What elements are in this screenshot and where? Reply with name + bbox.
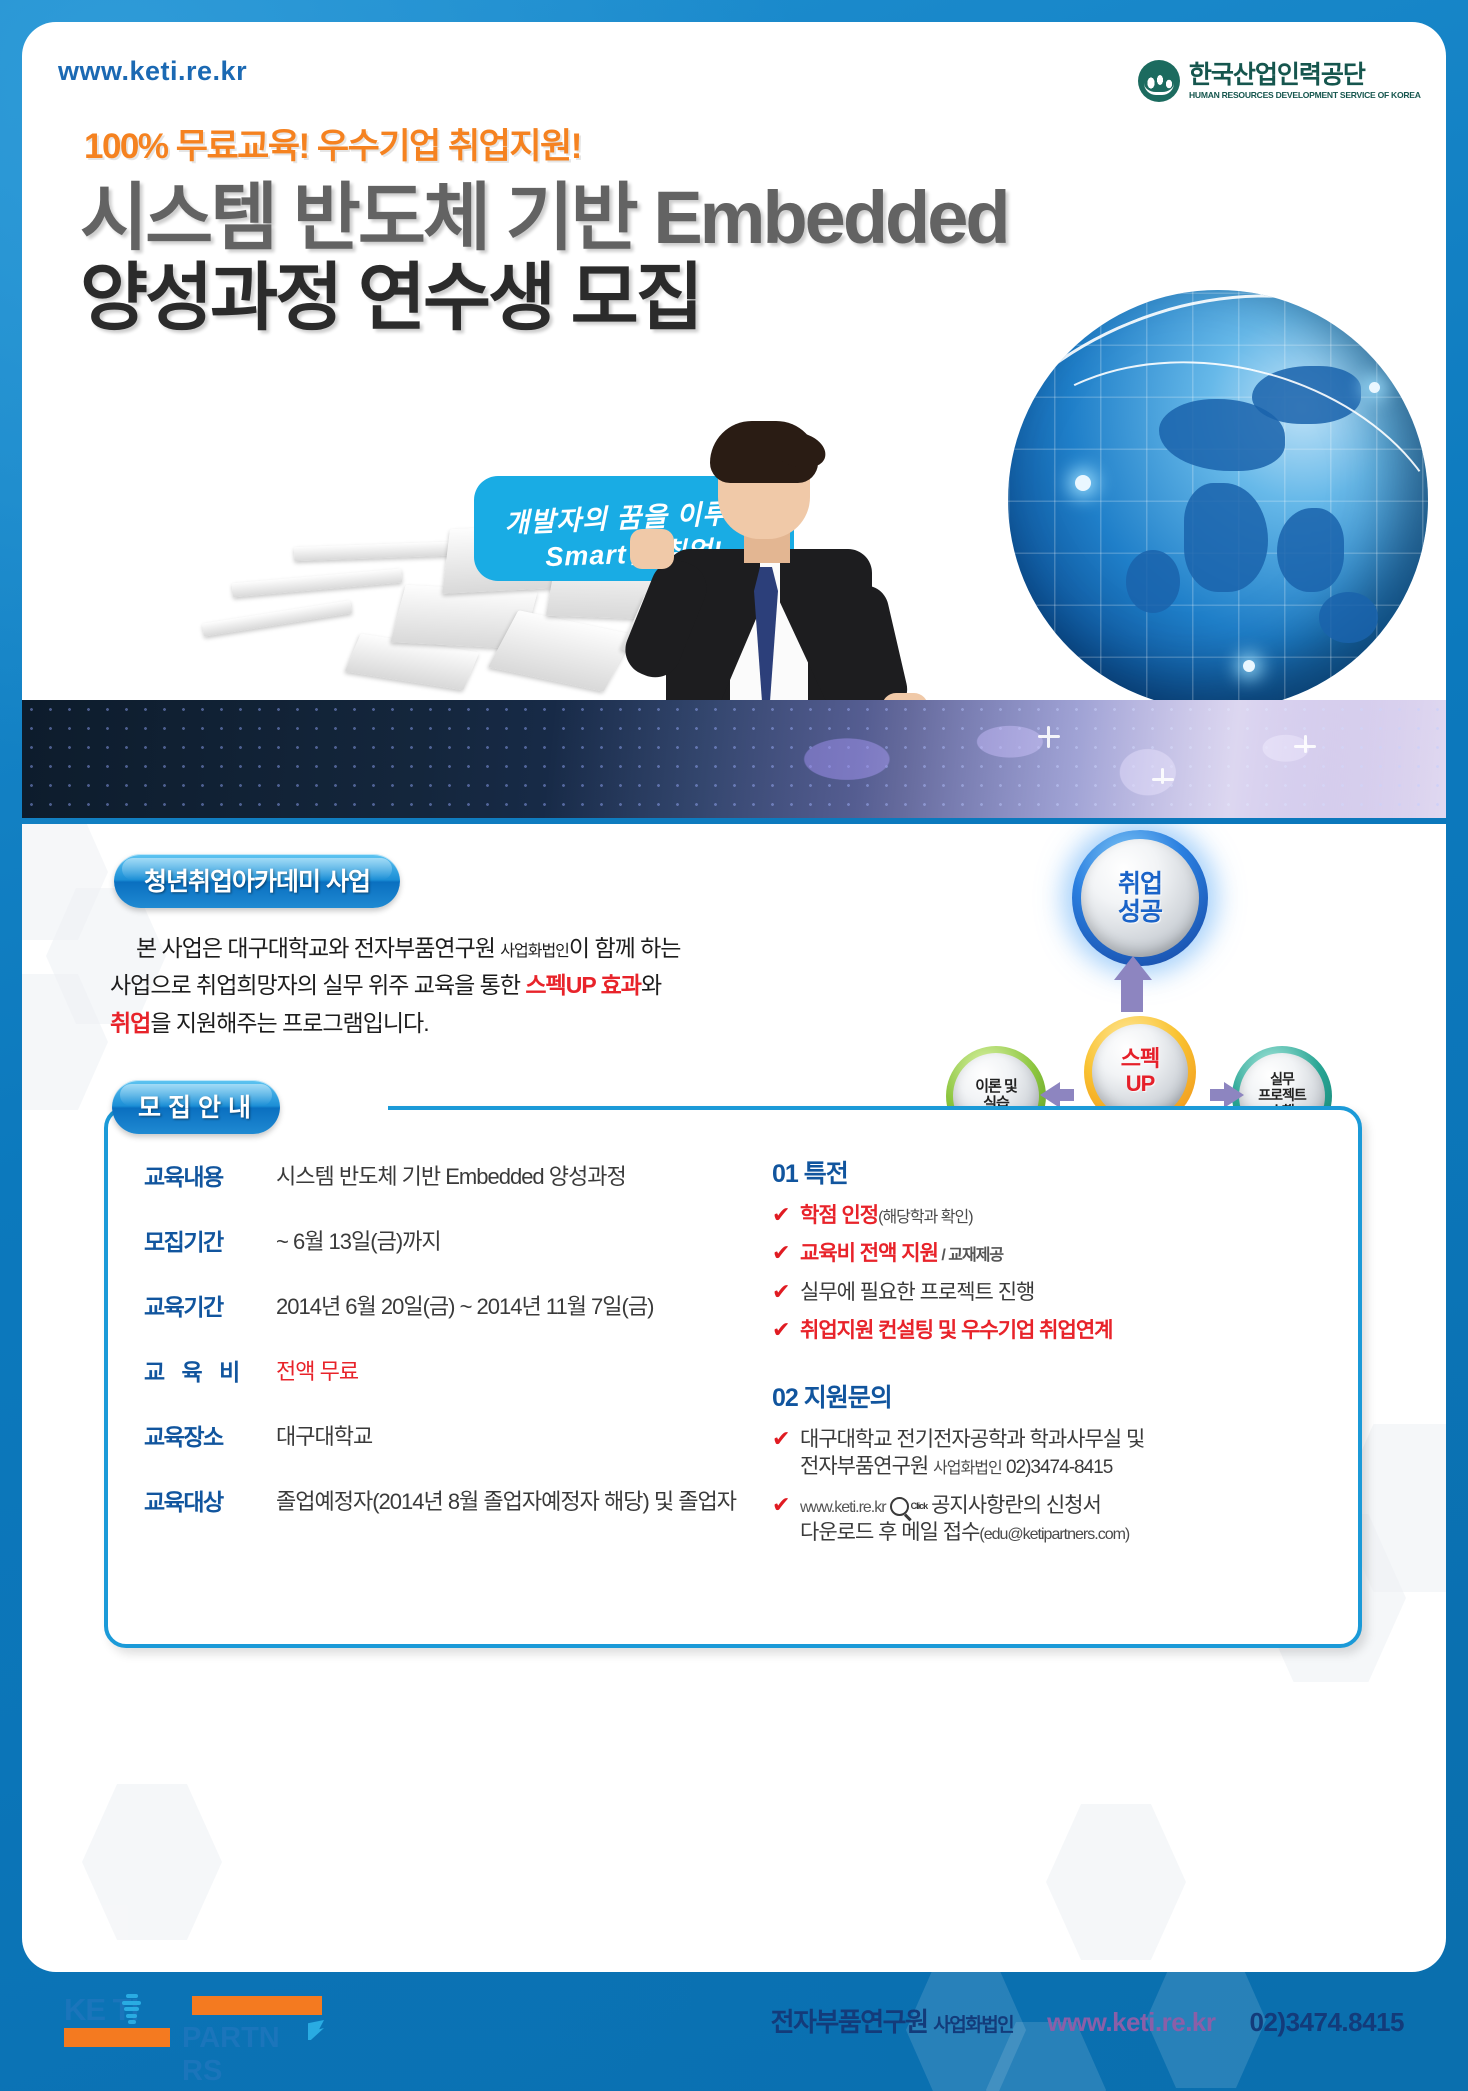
check-icon: ✔: [772, 1426, 800, 1451]
benefits-block: 01 특전 ✔ 학점 인정(해당학과 확인) ✔ 교육비 전액 지원 / 교재제…: [772, 1154, 1354, 1344]
recruit-row-key: 교육대상: [144, 1483, 276, 1517]
partners-logo-text: PARTN RS: [182, 2022, 280, 2088]
recruit-row: 교육기간 2014년 6월 20일(금) ~ 2014년 11월 7일(금): [144, 1288, 744, 1322]
footer-url[interactable]: www.keti.re.kr: [1047, 2007, 1215, 2038]
recruit-row-value: 시스템 반도체 기반 Embedded 양성과정: [276, 1158, 626, 1191]
recruit-tag-label: 모집안내: [112, 1080, 280, 1134]
contact-heading: 02 지원문의: [772, 1378, 1354, 1414]
contact-text: 대구대학교 전기전자공학과 학과사무실 및 전자부품연구원 사업화법인 02)3…: [800, 1426, 1144, 1481]
keti-flag-icon: [308, 2020, 324, 2040]
recruit-row-value: 2014년 6월 20일(금) ~ 2014년 11월 7일(금): [276, 1288, 653, 1321]
hero-panel: www.keti.re.kr 한국산업인력공단 HUMAN RESOURCES …: [22, 22, 1446, 700]
benefit-item: ✔ 학점 인정(해당학과 확인): [772, 1202, 1354, 1229]
intro-text-3: 사업으로 취업희망자의 실무 위주 교육을 통한: [110, 972, 525, 998]
check-icon: ✔: [772, 1317, 800, 1342]
contact-text: www.keti.re.krClick공지사항란의 신청서 다운로드 후 메일 …: [800, 1492, 1129, 1547]
check-icon: ✔: [772, 1202, 800, 1227]
contact-item: ✔ www.keti.re.krClick공지사항란의 신청서 다운로드 후 메…: [772, 1492, 1354, 1547]
recruit-row: 교육장소 대구대학교: [144, 1418, 744, 1452]
check-icon: ✔: [772, 1240, 800, 1265]
intro-tag: 청년취업아카데미 사업: [114, 854, 770, 908]
benefit-subtext: (해당학과 확인): [878, 1209, 972, 1226]
keti-partners-logo: KE TI PARTN RS: [64, 1992, 279, 2052]
benefit-text: 학점 인정(해당학과 확인): [800, 1202, 973, 1229]
recruit-tag: 모집안내: [112, 1080, 280, 1134]
footer: KE TI PARTN RS 전자부품연구원 사업화법인 www.keti.re…: [22, 1972, 1446, 2069]
recruit-row-key: 모집기간: [144, 1223, 276, 1257]
contact-block: 02 지원문의 ✔ 대구대학교 전기전자공학과 학과사무실 및 전자부품연구원 …: [772, 1378, 1354, 1547]
benefit-item: ✔ 교육비 전액 지원 / 교재제공: [772, 1240, 1354, 1267]
band-light-sweep: [22, 700, 1446, 818]
click-cursor-icon: Click: [890, 1497, 928, 1516]
recruit-row: 모집기간 ~ 6월 13일(금)까지: [144, 1223, 744, 1257]
footer-organization: 전자부품연구원 사업화법인: [771, 2002, 1014, 2039]
recruit-info-section: 모집안내 교육내용 시스템 반도체 기반 Embedded 양성과정 모집기간 …: [104, 1080, 1354, 1640]
recruit-row: 교 육 비 전액 무료: [144, 1353, 744, 1387]
hrdkorea-logo: 한국산업인력공단 HUMAN RESOURCES DEVELOPMENT SER…: [1138, 60, 1416, 102]
check-icon: ✔: [772, 1279, 800, 1304]
intro-text-1: 본 사업은 대구대학교와 전자부품연구원: [136, 935, 500, 961]
footer-telephone: 02)3474.8415: [1250, 2007, 1404, 2038]
intro-highlight-spec-up: 스펙UP 효과: [525, 972, 641, 998]
intro-text-5: 을 지원해주는 프로그램입니다.: [150, 1010, 428, 1036]
hero-website-url[interactable]: www.keti.re.kr: [58, 56, 247, 87]
intro-paragraph: 본 사업은 대구대학교와 전자부품연구원 사업화법인이 함께 하는 사업으로 취…: [110, 930, 770, 1042]
recruit-row-key: 교육기간: [144, 1288, 276, 1322]
main-panel: 청년취업아카데미 사업 본 사업은 대구대학교와 전자부품연구원 사업화법인이 …: [22, 824, 1446, 1972]
success-flow-diagram: 취업 성공 스펙 UP 이론 및: [932, 830, 1352, 1110]
arrow-up-stem-icon: [1121, 978, 1143, 1012]
recruit-row-value: 졸업예정자(2014년 8월 졸업자예정자 해당) 및 졸업자: [276, 1483, 736, 1516]
orb-employment-success: 취업 성공: [1072, 830, 1208, 966]
recruit-detail-list: 교육내용 시스템 반도체 기반 Embedded 양성과정 모집기간 ~ 6월 …: [104, 1106, 744, 1640]
footer-contact: 전자부품연구원 사업화법인 www.keti.re.kr 02)3474.841…: [771, 2002, 1404, 2039]
hero-headline-line2: 양성과정 연수생 모집: [80, 238, 701, 345]
intro-highlight-employment: 취업: [110, 1010, 150, 1036]
businessman-illustration: [632, 417, 962, 700]
check-icon: ✔: [772, 1492, 800, 1517]
intro-text-small: 사업화법인: [500, 943, 569, 960]
recruit-row: 교육내용 시스템 반도체 기반 Embedded 양성과정: [144, 1158, 744, 1192]
benefit-text: 취업지원 컨설팅 및 우수기업 취업연계: [800, 1317, 1112, 1344]
recruit-row-value: ~ 6월 13일(금)까지: [276, 1223, 441, 1256]
keti-bar-top: [192, 1996, 322, 2015]
poster-root: www.keti.re.kr 한국산업인력공단 HUMAN RESOURCES …: [0, 0, 1468, 2091]
benefit-subtext: / 교재제공: [938, 1247, 1003, 1264]
globe-illustration: [1008, 290, 1428, 700]
recruit-row-key: 교육장소: [144, 1418, 276, 1452]
contact-email[interactable]: (edu@ketipartners.com): [979, 1526, 1129, 1543]
contact-url[interactable]: www.keti.re.kr: [800, 1499, 886, 1516]
recruit-row-value: 대구대학교: [276, 1418, 372, 1451]
benefit-text: 실무에 필요한 프로젝트 진행: [800, 1279, 1034, 1306]
contact-item: ✔ 대구대학교 전기전자공학과 학과사무실 및 전자부품연구원 사업화법인 02…: [772, 1426, 1354, 1481]
orb-success-line2: 성공: [1118, 898, 1162, 926]
benefit-item: ✔ 실무에 필요한 프로젝트 진행: [772, 1279, 1354, 1306]
recruit-row: 교육대상 졸업예정자(2014년 8월 졸업자예정자 해당) 및 졸업자: [144, 1483, 744, 1517]
orb-success-line1: 취업: [1118, 870, 1162, 898]
intro-section: 청년취업아카데미 사업 본 사업은 대구대학교와 전자부품연구원 사업화법인이 …: [110, 854, 770, 1042]
recruit-benefits-contact: 01 특전 ✔ 학점 인정(해당학과 확인) ✔ 교육비 전액 지원 / 교재제…: [744, 1106, 1354, 1640]
arrow-up-icon: [1114, 956, 1152, 980]
intro-text-2: 이 함께 하는: [569, 935, 681, 961]
intro-tag-label: 청년취업아카데미 사업: [114, 854, 400, 908]
hrdkorea-logo-english: HUMAN RESOURCES DEVELOPMENT SERVICE OF K…: [1189, 91, 1421, 99]
keti-bar-bottom: [64, 2028, 170, 2047]
recruit-row-key: 교 육 비: [144, 1353, 276, 1387]
benefits-heading: 01 특전: [772, 1154, 1354, 1190]
hrdkorea-emblem-icon: [1138, 60, 1180, 102]
recruit-row-value: 전액 무료: [276, 1353, 358, 1386]
benefit-text: 교육비 전액 지원 / 교재제공: [800, 1240, 1003, 1267]
intro-text-4: 와: [641, 972, 661, 998]
orb-spec-line1: 스펙: [1121, 1047, 1159, 1072]
recruit-row-key: 교육내용: [144, 1158, 276, 1192]
hrdkorea-logo-korean: 한국산업인력공단: [1189, 63, 1416, 88]
world-map-band: [22, 700, 1446, 818]
benefit-item: ✔ 취업지원 컨설팅 및 우수기업 취업연계: [772, 1317, 1354, 1344]
keti-spine-icon: [122, 1994, 141, 2028]
